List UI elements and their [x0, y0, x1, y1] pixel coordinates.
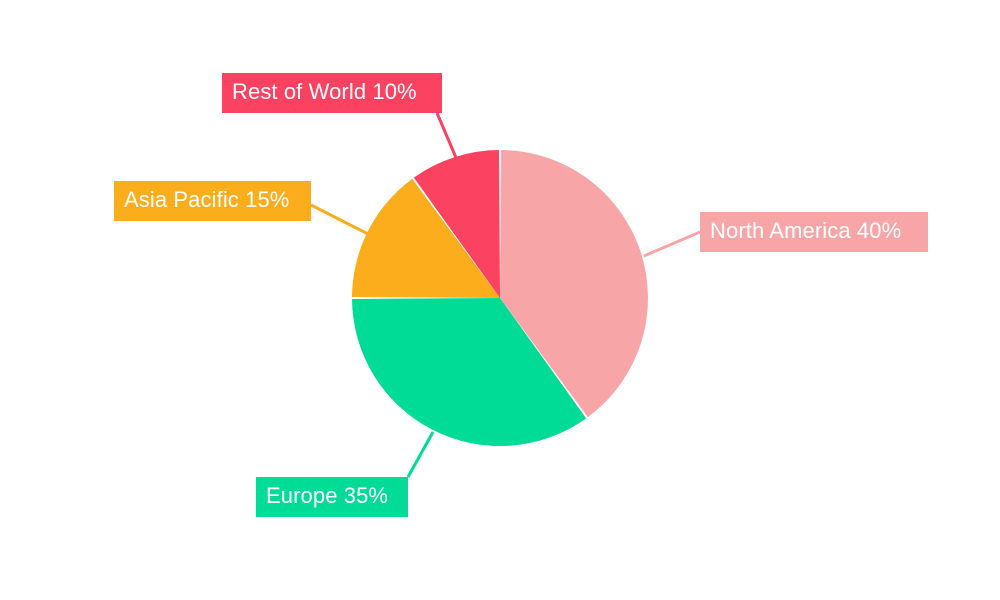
slice-label-text-north-america: North America 40%: [710, 217, 901, 245]
slice-label-asia-pacific[interactable]: Asia Pacific 15%: [114, 181, 311, 221]
pie-chart-figure: North America 40% Europe 35% Asia Pacifi…: [0, 0, 1000, 600]
slice-label-rest-of-world[interactable]: Rest of World 10%: [222, 73, 442, 113]
pie-chart-svg: [0, 0, 1000, 600]
slice-label-europe[interactable]: Europe 35%: [256, 477, 408, 517]
slice-label-north-america[interactable]: North America 40%: [700, 212, 928, 252]
slice-label-text-rest-of-world: Rest of World 10%: [232, 78, 417, 106]
slice-label-text-asia-pacific: Asia Pacific 15%: [124, 186, 289, 214]
slice-label-text-europe: Europe 35%: [266, 482, 388, 510]
